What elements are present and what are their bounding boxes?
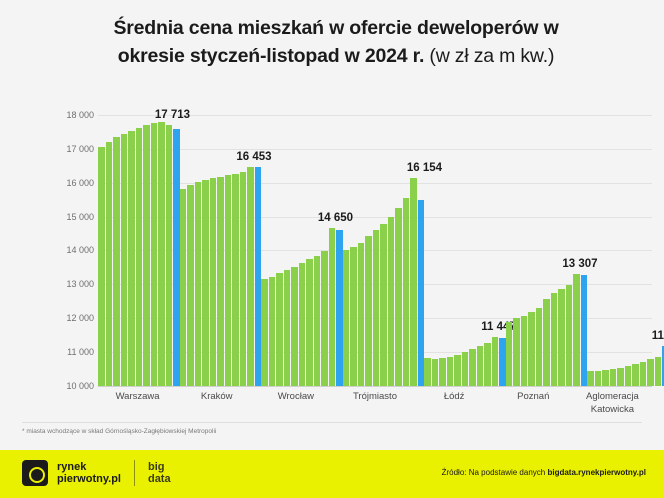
bar-group: 11 195 [587,98,664,386]
bar-group: 16 453 [180,98,262,386]
bar[interactable] [543,299,550,386]
x-axis-label: Warszawa [98,390,177,416]
bigdata-logo: big data [148,461,171,485]
bar[interactable] [232,174,239,386]
bar[interactable] [166,125,173,386]
bar[interactable] [610,369,617,386]
bar-groups: 17 71316 45314 65016 15411 44713 30711 1… [98,98,652,386]
y-axis-tick: 16 000 [52,178,94,188]
x-axis-label: Łódź [415,390,494,416]
bars [98,98,180,386]
bar[interactable] [602,370,609,386]
bar[interactable] [306,259,313,386]
x-axis-label: AglomeracjaKatowicka [573,390,652,416]
bar[interactable] [484,343,491,386]
brand-logo[interactable]: rynek pierwotny.pl big data [22,460,171,486]
bar[interactable] [261,279,268,386]
bar[interactable] [225,175,232,386]
chart-card: Średnia cena mieszkań w ofercie dewelope… [0,0,664,498]
bar[interactable] [528,312,535,386]
bar[interactable] [521,316,528,386]
bar[interactable] [121,134,128,386]
source-prefix: Źródło: Na podstawie danych [442,468,548,477]
bar[interactable] [136,128,143,386]
bar[interactable] [595,371,602,386]
y-axis-tick: 14 000 [52,245,94,255]
bar[interactable] [536,308,543,386]
bar[interactable] [617,368,624,386]
bar[interactable] [432,359,439,386]
bar[interactable] [551,293,558,386]
y-axis-tick: 15 000 [52,212,94,222]
bar[interactable] [373,230,380,386]
y-axis-tick: 17 000 [52,144,94,154]
x-axis-label: Poznań [494,390,573,416]
bar[interactable] [113,137,120,386]
bar[interactable] [395,208,402,386]
logo-line-2: pierwotny.pl [57,473,121,485]
y-axis-tick: 18 000 [52,110,94,120]
bar[interactable] [655,357,662,386]
bar[interactable] [454,355,461,387]
bar[interactable] [587,371,594,386]
bar[interactable] [462,352,469,386]
x-axis-label: Wrocław [256,390,335,416]
x-axis-label: Trójmiasto [335,390,414,416]
bar[interactable] [314,256,321,386]
x-axis-label: Kraków [177,390,256,416]
bar[interactable] [625,366,632,386]
bar[interactable] [240,172,247,386]
bar[interactable] [566,285,573,386]
bars [261,98,343,386]
bar[interactable] [350,247,357,386]
bar[interactable] [558,289,565,386]
bar[interactable] [98,147,105,386]
bar[interactable] [343,250,350,386]
bar[interactable] [506,322,513,386]
bar[interactable] [640,362,647,386]
bar-group: 14 650 [261,98,343,386]
bar[interactable] [365,236,372,386]
y-axis-tick: 10 000 [52,381,94,391]
bar[interactable] [269,277,276,386]
title-line-1: Średnia cena mieszkań w ofercie dewelope… [113,17,558,39]
title-line-2-bold: okresie styczeń-listopad w 2024 r. [118,45,430,67]
bar-group: 16 154 [343,98,425,386]
y-axis-tick: 12 000 [52,313,94,323]
bars [424,98,506,386]
bar[interactable] [276,273,283,386]
bigdata-line-2: data [148,473,171,485]
y-axis-tick: 13 000 [52,279,94,289]
footer-bar: rynek pierwotny.pl big data Źródło: Na p… [0,450,664,498]
bar[interactable] [299,263,306,386]
bar[interactable] [477,346,484,386]
bar[interactable] [106,142,113,386]
bar[interactable] [247,167,254,386]
bar[interactable] [202,180,209,386]
bar[interactable] [403,198,410,386]
logo-text: rynek pierwotny.pl [57,461,121,485]
logo-mark-icon [22,460,48,486]
bigdata-line-1: big [148,461,165,473]
footnote: * miasta wchodzące w skład Górnośląsko-Z… [22,428,216,435]
footer-divider [22,422,642,423]
bars [587,98,664,386]
bar[interactable] [195,182,202,386]
bar[interactable] [217,177,224,386]
page-title: Średnia cena mieszkań w ofercie dewelope… [56,14,616,70]
title-line-2-light: (w zł za m kw.) [429,45,554,67]
bar[interactable] [447,357,454,386]
bar[interactable] [151,123,158,386]
bar[interactable] [284,270,291,386]
bar[interactable] [210,178,217,386]
logo-divider [134,460,135,486]
bar[interactable] [180,189,187,386]
x-axis-labels: WarszawaKrakówWrocławTrójmiastoŁódźPozna… [98,390,652,416]
bar[interactable] [380,224,387,386]
bar[interactable] [128,131,135,386]
bars [506,98,588,386]
bar[interactable] [424,358,431,386]
bar[interactable] [439,358,446,386]
bar[interactable] [388,217,395,386]
y-axis-tick: 11 000 [52,347,94,357]
bar[interactable] [358,243,365,386]
bars [180,98,262,386]
bar[interactable] [329,228,336,386]
logo-line-1: rynek [57,461,86,473]
source-note: Źródło: Na podstawie danych bigdata.ryne… [442,468,646,477]
bar[interactable] [291,267,298,386]
bar-group: 17 713 [98,98,180,386]
bar[interactable] [321,251,328,386]
x-axis-line [98,386,652,387]
bar[interactable] [143,125,150,386]
bars [343,98,425,386]
source-link: bigdata.rynekpierwotny.pl [547,468,646,477]
bar[interactable] [158,122,165,386]
bar-group: 13 307 [506,98,588,386]
bar[interactable] [647,359,654,386]
bar[interactable] [632,364,639,386]
bar[interactable] [513,318,520,386]
bar-value-label: 11 195 [652,330,664,342]
bar[interactable] [469,349,476,386]
bar[interactable] [187,185,194,386]
bar[interactable] [410,178,417,387]
bar[interactable] [573,274,580,386]
bar[interactable] [492,337,499,386]
bar-chart-plot: 18 00017 00016 00015 00014 00013 00012 0… [52,98,652,386]
bar-group: 11 447 [424,98,506,386]
